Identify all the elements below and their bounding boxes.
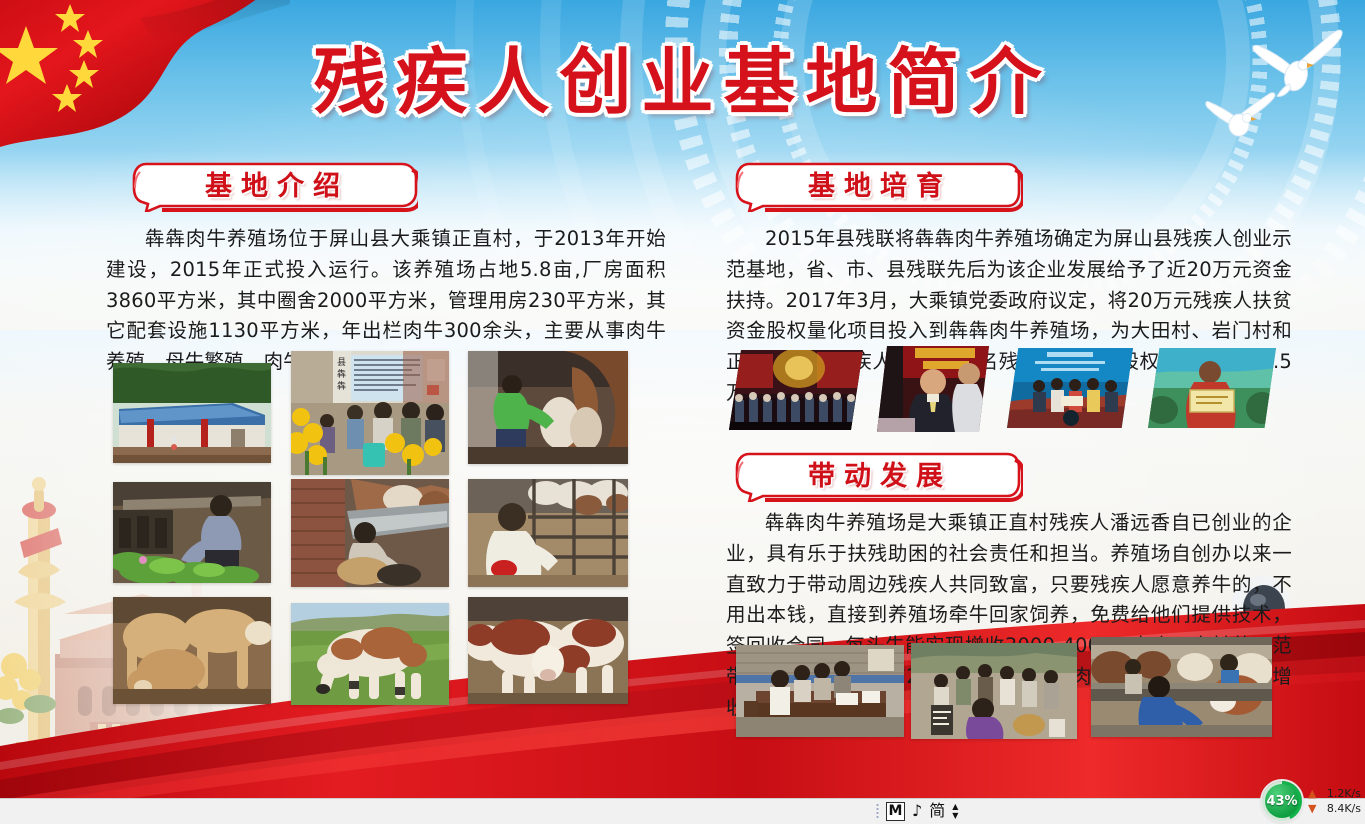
photo-grid-item [291,603,449,705]
chevron-up-icon: ▲ [952,803,958,810]
award-photo-item [877,346,989,432]
download-speed-value: 8.4K/s [1321,802,1361,815]
photo-green-jacket-tending-cattle [468,351,628,464]
photo-red-white-cattle [468,597,628,704]
poster-canvas: 残疾人创业基地简介 基地介绍 犇犇肉牛养殖场位于屏山县大乘镇正直村，于2013年… [0,0,1365,824]
photo-grid-item [113,597,271,704]
network-speed-indicator[interactable]: ▲ 1.2K/s ▼ 8.4K/s [1308,787,1361,817]
download-speed-row: ▼ 8.4K/s [1308,802,1361,815]
award-photo-item [1007,348,1133,428]
photo-grid-item [291,479,449,587]
dove-icon [1205,86,1277,142]
resource-gauge[interactable]: 43% [1262,781,1302,821]
ime-mode-key[interactable]: M [886,802,905,821]
chevron-down-icon: ▼ [952,812,958,819]
arrow-down-icon: ▼ [1308,803,1316,814]
system-tray[interactable]: 43% ▲ 1.2K/s ▼ 8.4K/s [1262,781,1361,823]
svg-text:犇: 犇 [337,368,346,380]
ribbon-banner-shape [731,448,1023,502]
photo-blue-roof-barns [113,363,271,463]
bottom-photo-item [1091,637,1272,737]
photo-sorting-fodder [113,482,271,583]
photo-feeding-cattle-shed [1091,637,1272,737]
photo-certificate-outdoors [1148,348,1276,428]
section-header-label: 带动发展 [731,448,1023,502]
svg-text:犇: 犇 [337,380,346,392]
ribbon-banner-shape [731,158,1023,212]
photo-grid-item [113,363,271,463]
upload-speed-value: 1.2K/s [1321,787,1361,800]
photo-cctv-stage-group [729,350,863,430]
photo-grid-item [468,597,628,704]
gauge-percent-label: 43% [1266,794,1297,809]
award-photo-item [1148,348,1276,428]
ribbon-banner-shape [130,158,418,212]
svg-text:县: 县 [337,357,346,368]
dove-icon [1251,20,1343,98]
photo-village-crowd [911,643,1077,739]
photo-filling-feed-trough [291,479,449,587]
photo-award-recipient [877,346,989,432]
photo-villagers-registering [736,645,904,737]
photo-blue-stage-group [1007,348,1133,428]
award-photo-item [729,350,863,430]
photo-grid-item [468,351,628,464]
ime-script-toggle[interactable]: 简 [929,803,945,819]
photo-cooperative-meeting: 县犇犇 [291,351,449,475]
photo-grazing-cow [291,603,449,705]
page-title: 残疾人创业基地简介 [305,46,1059,118]
section-header-label: 基地培育 [731,158,1023,212]
ime-drag-handle[interactable] [876,803,879,819]
chevron-up-down-icon[interactable]: ▲ ▼ [952,803,958,819]
section-header-base-cultivation: 基地培育 [731,158,1023,212]
photo-grid-item [113,482,271,583]
section-header-label: 基地介绍 [130,158,418,212]
section-header-base-intro: 基地介绍 [130,158,418,212]
china-flag-icon [0,0,290,185]
upload-speed-row: ▲ 1.2K/s [1308,787,1361,800]
photo-grid-item [468,479,628,587]
page-title-block: 残疾人创业基地简介 [0,46,1365,118]
bottom-photo-item [911,643,1077,739]
bottom-photo-item [736,645,904,737]
ime-toolbar[interactable]: M ♪ 简 ▲ ▼ [872,799,964,823]
taskbar[interactable] [0,798,1365,824]
music-note-icon[interactable]: ♪ [912,803,922,819]
photo-grid-item: 县犇犇 [291,351,449,475]
arrow-up-icon: ▲ [1308,788,1316,799]
photo-tan-calves [113,597,271,704]
section-header-driving-development: 带动发展 [731,448,1023,502]
photo-white-coat-beside-pen [468,479,628,587]
